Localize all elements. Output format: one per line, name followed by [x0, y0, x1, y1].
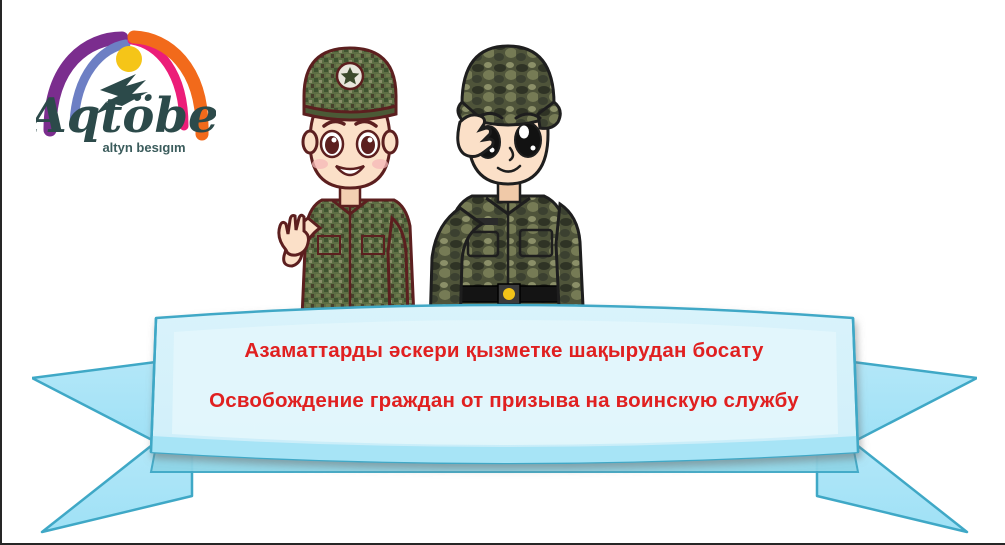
- ribbon-left-tail-upper: [32, 362, 156, 442]
- logo-wordmark: Aqtöbe: [36, 88, 216, 144]
- poster-canvas: Aqtöbe altyn besıgım: [0, 0, 1005, 545]
- ribbon-panel-inner-face: [172, 320, 838, 445]
- ribbon-right-tail-upper: [853, 362, 977, 442]
- soldier-characters-illustration: [274, 18, 674, 328]
- soldier-saluting: [430, 46, 584, 328]
- aqtobe-city-logo: Aqtöbe altyn besıgım: [36, 22, 216, 162]
- logo-tagline: altyn besıgım: [102, 140, 185, 155]
- banner-ribbon: [32, 296, 977, 541]
- sun-icon: [116, 46, 142, 72]
- soldier-waving-hand: [279, 215, 309, 255]
- soldier-waving: [279, 48, 414, 318]
